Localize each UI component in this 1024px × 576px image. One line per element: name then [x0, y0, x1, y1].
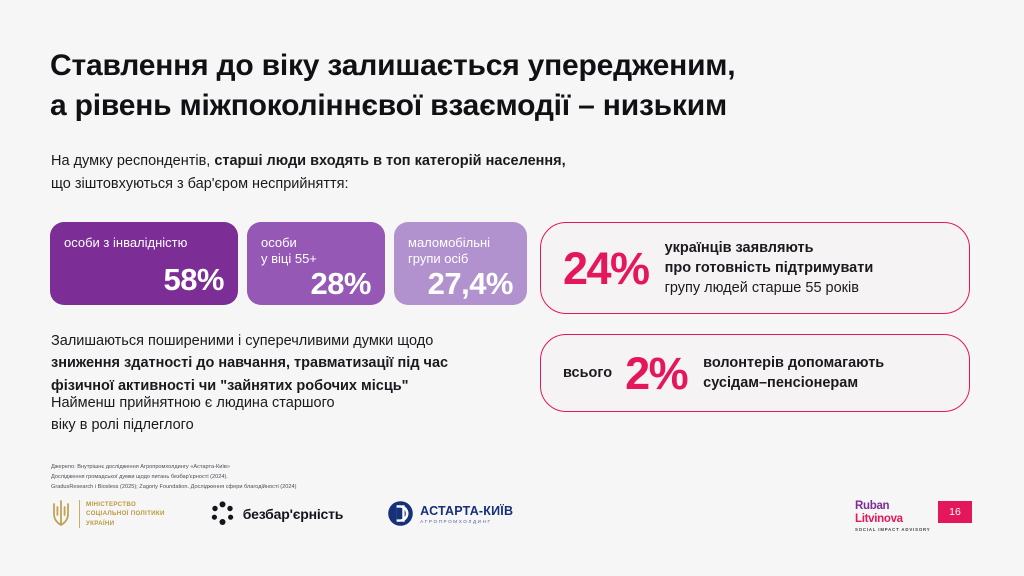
pink-card-text: волонтерів допомагають сусідам–пенсіонер… — [703, 353, 884, 394]
ministry-logo: Міністерство соціальної політики України — [50, 500, 165, 528]
astarta-logo-text: АСТАРТА-КИЇВ агропромхолдинг — [420, 504, 513, 524]
ministry-line-3: України — [86, 520, 114, 527]
source-line-3: GradusResearch і Biosless (2025); Zagori… — [51, 483, 571, 493]
body-paragraph-1: Залишаються поширеними і суперечливими д… — [51, 330, 521, 397]
brand-logo: Ruban Litvinova SOCIAL IMPACT ADVISORY — [855, 501, 931, 532]
pink-card-text-regular: групу людей старше 55 років — [665, 278, 874, 298]
pink-card-text: українців заявляють про готовність підтр… — [665, 238, 874, 299]
pink-callout-card: 24% українців заявляють про готовність п… — [540, 222, 970, 314]
bezbarernist-logo-text: безбар'єрність — [243, 506, 343, 522]
purple-card-label-line-2: групи осіб — [408, 251, 468, 266]
slide-root: Ставлення до віку залишається упереджени… — [0, 0, 1024, 576]
purple-card-label: особи у віці 55+ — [261, 235, 371, 268]
brand-line-1: Ruban — [855, 501, 931, 513]
trident-icon — [50, 500, 72, 527]
body-p2-line-1: Найменш прийнятною є людина старшого — [51, 395, 335, 411]
pink-card-text-bold-2: про готовність підтримувати — [665, 258, 874, 278]
purple-card-label: особи з інвалідністю — [64, 235, 224, 251]
purple-stat-card: особи у віці 55+ 28% — [247, 222, 385, 305]
body-p1-line-2: зниження здатності до навчання, травмати… — [51, 355, 448, 371]
purple-stat-card: маломобільні групи осіб 27,4% — [394, 222, 527, 305]
ministry-logo-text: Міністерство соціальної політики України — [79, 500, 165, 528]
purple-card-label-line-2: у віці 55+ — [261, 251, 317, 266]
purple-card-value: 58% — [64, 264, 224, 295]
brand-tagline: SOCIAL IMPACT ADVISORY — [855, 528, 931, 532]
astarta-logo: АСТАРТА-КИЇВ агропромхолдинг — [387, 500, 513, 527]
dots-circle-icon — [209, 500, 236, 527]
title-line-1: Ставлення до віку залишається упереджени… — [50, 46, 950, 86]
page-number-badge: 16 — [938, 501, 972, 523]
pink-card-value: 2% — [625, 351, 687, 396]
purple-card-label-line-1: маломобільні — [408, 235, 490, 250]
purple-stat-card-group: особи з інвалідністю 58% особи у віці 55… — [50, 222, 527, 305]
subtitle-lead: На думку респондентів, — [51, 153, 214, 169]
pink-card-value: 24% — [563, 246, 649, 291]
pink-callout-card: всього 2% волонтерів допомагають сусідам… — [540, 334, 970, 412]
astarta-emblem-icon — [387, 500, 414, 527]
purple-stat-card: особи з інвалідністю 58% — [50, 222, 238, 305]
astarta-subtitle: агропромхолдинг — [420, 519, 513, 524]
purple-card-label-line-1: особи з інвалідністю — [64, 235, 187, 250]
purple-card-value: 28% — [261, 268, 371, 299]
ministry-line-1: Міністерство — [86, 501, 136, 508]
title-line-2: а рівень міжпоколіннєвої взаємодії – низ… — [50, 86, 950, 126]
body-paragraph-2: Найменш прийнятною є людина старшого вік… — [51, 392, 451, 437]
purple-card-label: маломобільні групи осіб — [408, 235, 513, 268]
subtitle-line-2: що зіштовхуються з бар'єром несприйняття… — [51, 176, 349, 192]
footer-logo-group: Міністерство соціальної політики України… — [50, 500, 513, 528]
bezbarernist-logo: безбар'єрність — [209, 500, 343, 527]
source-line-1: Джерело: Внутрішнє дослідження Агропромх… — [51, 463, 571, 473]
ministry-line-2: соціальної політики — [86, 510, 165, 517]
pink-card-text-bold-2: сусідам–пенсіонерам — [703, 373, 884, 393]
brand-line-2: Litvinova — [855, 514, 931, 526]
subtitle: На думку респондентів, старші люди входя… — [51, 150, 771, 196]
pink-card-text-bold-1: українців заявляють — [665, 238, 874, 258]
source-footnote: Джерело: Внутрішнє дослідження Агропромх… — [51, 463, 571, 492]
source-line-2: Дослідження громадської думки щодо питан… — [51, 473, 571, 483]
purple-card-label-line-1: особи — [261, 235, 297, 250]
page-title: Ставлення до віку залишається упереджени… — [50, 46, 950, 126]
purple-card-value: 27,4% — [408, 268, 513, 299]
pink-card-prefix: всього — [563, 365, 612, 381]
body-p1-line-1: Залишаються поширеними і суперечливими д… — [51, 333, 433, 349]
astarta-name: АСТАРТА-КИЇВ — [420, 504, 513, 518]
body-p2-line-2: віку в ролі підлеглого — [51, 417, 194, 433]
pink-card-text-bold-1: волонтерів допомагають — [703, 353, 884, 373]
subtitle-bold: старші люди входять в топ категорій насе… — [214, 153, 565, 169]
